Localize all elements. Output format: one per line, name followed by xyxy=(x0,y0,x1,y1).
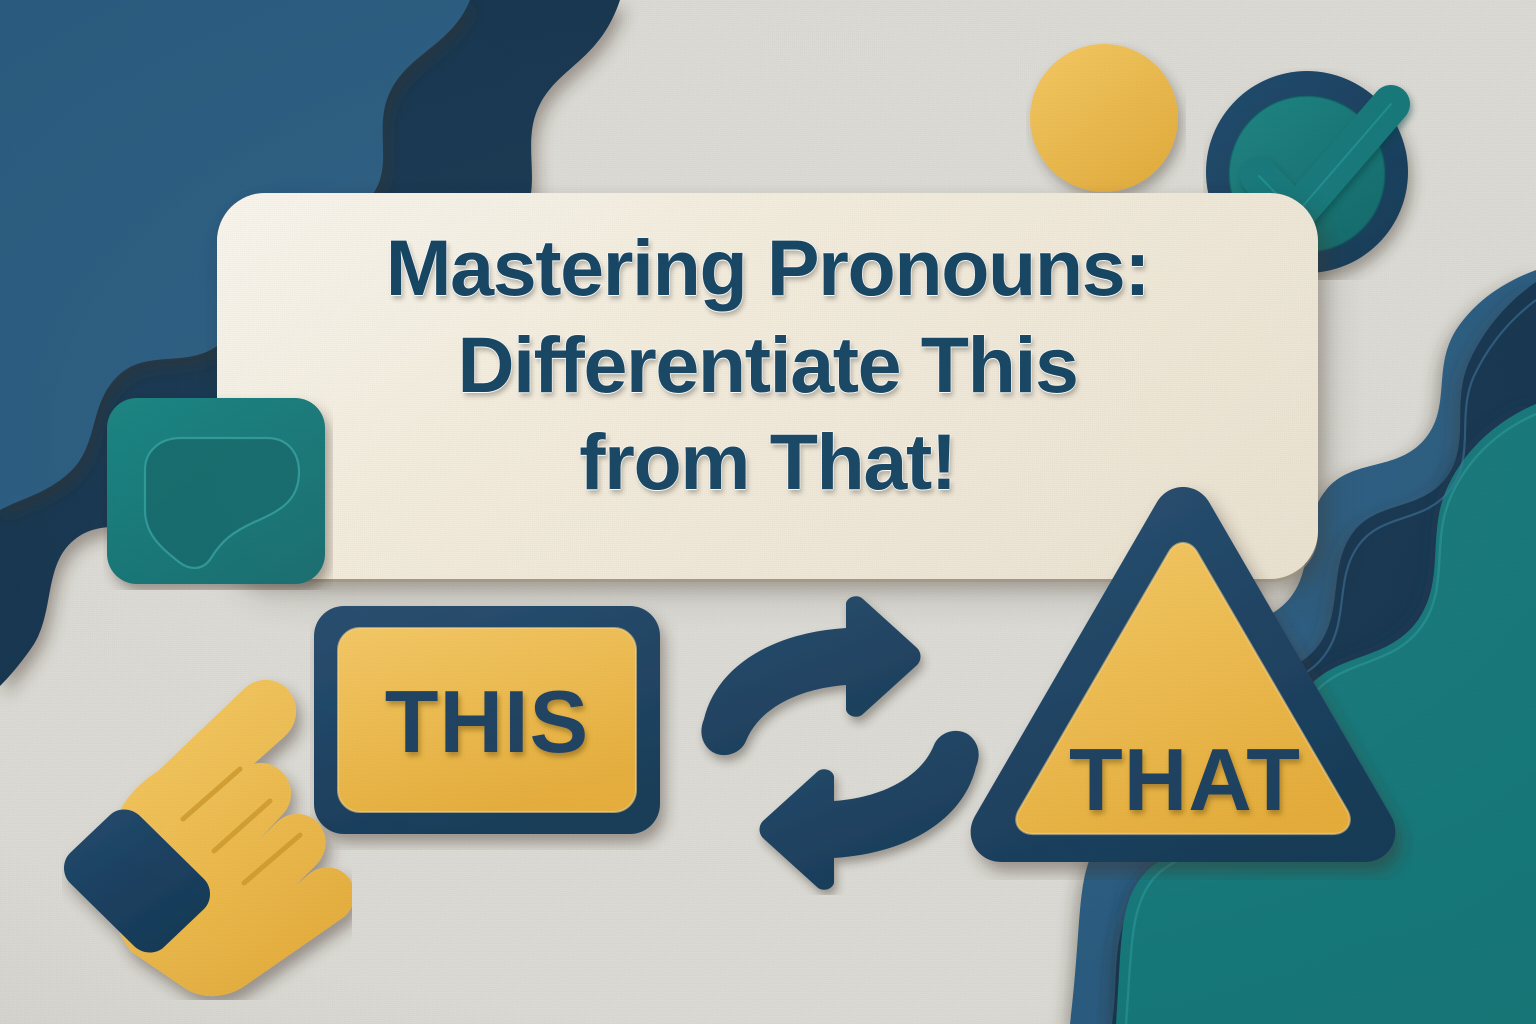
this-button-label: THIS xyxy=(385,672,589,771)
title-line-2: Differentiate This xyxy=(257,316,1278,413)
page-title: Mastering Pronouns: Differentiate This f… xyxy=(257,219,1278,510)
title-line-1: Mastering Pronouns: xyxy=(257,219,1278,316)
arrow-right xyxy=(701,596,920,755)
poster-canvas: Mastering Pronouns: Differentiate This f… xyxy=(0,0,1536,1024)
two-way-exchange-arrows-icon xyxy=(690,595,990,895)
this-button[interactable]: THIS xyxy=(310,600,680,850)
pointing-hand-icon xyxy=(62,655,352,1000)
that-sign-label: THAT xyxy=(1069,730,1301,829)
yellow-circle-icon xyxy=(1026,42,1186,202)
arrow-left xyxy=(760,731,979,890)
speech-bubble-chip-icon xyxy=(103,394,333,590)
that-warning-sign[interactable]: THAT xyxy=(955,480,1415,880)
